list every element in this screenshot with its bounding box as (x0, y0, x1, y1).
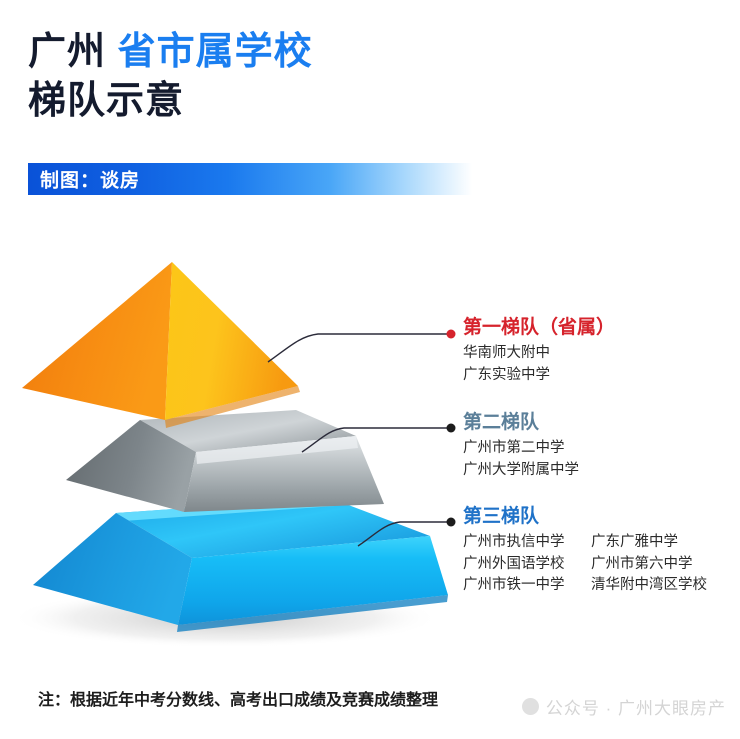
school-row: 广州大学附属中学 (463, 460, 579, 482)
school-row: 广州外国语学校广州市第六中学 (463, 554, 707, 576)
page-header: 广州 省市属学校 梯队示意 (28, 28, 708, 125)
top-tier-left-face (22, 262, 172, 420)
byline-text: 制图：谈房 (40, 166, 140, 193)
school-row: 广州市第二中学 (463, 438, 579, 460)
page-title-line-1: 广州 省市属学校 (28, 28, 708, 77)
tier-3-school-list: 广州市执信中学广东广雅中学 广州外国语学校广州市第六中学 广州市铁一中学清华附中… (463, 532, 707, 597)
pyramid-graphic (0, 240, 470, 660)
school-row: 广州市执信中学广东广雅中学 (463, 532, 707, 554)
school-name: 华南师大附中 (463, 343, 550, 365)
watermark-text: 公众号 · 广州大眼房产 (546, 694, 726, 719)
tier-1-school-list: 华南师大附中 广东实验中学 (463, 343, 615, 387)
school-row: 广州市铁一中学清华附中湾区学校 (463, 575, 707, 597)
watermark-logo-icon (522, 698, 539, 715)
page-title-region: 广州 (28, 31, 106, 73)
byline-bar: 制图：谈房 (28, 163, 472, 195)
tier-1-annotation: 第一梯队（省属） 华南师大附中 广东实验中学 (463, 316, 615, 386)
tier-2-school-list: 广州市第二中学 广州大学附属中学 (463, 438, 579, 482)
school-row: 华南师大附中 (463, 343, 615, 365)
pyramid-tier-top (22, 262, 300, 428)
school-name: 广州大学附属中学 (463, 460, 579, 482)
footer-note: 注：根据近年中考分数线、高考出口成绩及竞赛成绩整理 (38, 686, 438, 710)
school-name: 广州市第六中学 (591, 554, 693, 576)
tier-3-annotation: 第三梯队 广州市执信中学广东广雅中学 广州外国语学校广州市第六中学 广州市铁一中… (463, 505, 707, 597)
school-row: 广东实验中学 (463, 365, 615, 387)
tier-1-heading: 第一梯队（省属） (463, 316, 615, 340)
pyramid-tier-middle (66, 410, 384, 512)
tier-2-annotation: 第二梯队 广州市第二中学 广州大学附属中学 (463, 411, 579, 481)
school-name: 广州市铁一中学 (463, 575, 591, 597)
page-title-line-2: 梯队示意 (28, 77, 708, 126)
school-name: 广东广雅中学 (591, 532, 678, 554)
school-name: 广东实验中学 (463, 365, 550, 387)
school-name: 广州市执信中学 (463, 532, 591, 554)
school-name: 清华附中湾区学校 (591, 575, 707, 597)
school-name: 广州外国语学校 (463, 554, 591, 576)
infographic-page: 广州 省市属学校 梯队示意 制图：谈房 (0, 0, 740, 739)
tier-3-heading: 第三梯队 (463, 505, 707, 529)
school-name: 广州市第二中学 (463, 438, 565, 460)
page-title-subject: 省市属学校 (118, 31, 313, 73)
tier-2-heading: 第二梯队 (463, 411, 579, 435)
watermark: 公众号 · 广州大眼房产 (522, 694, 726, 719)
